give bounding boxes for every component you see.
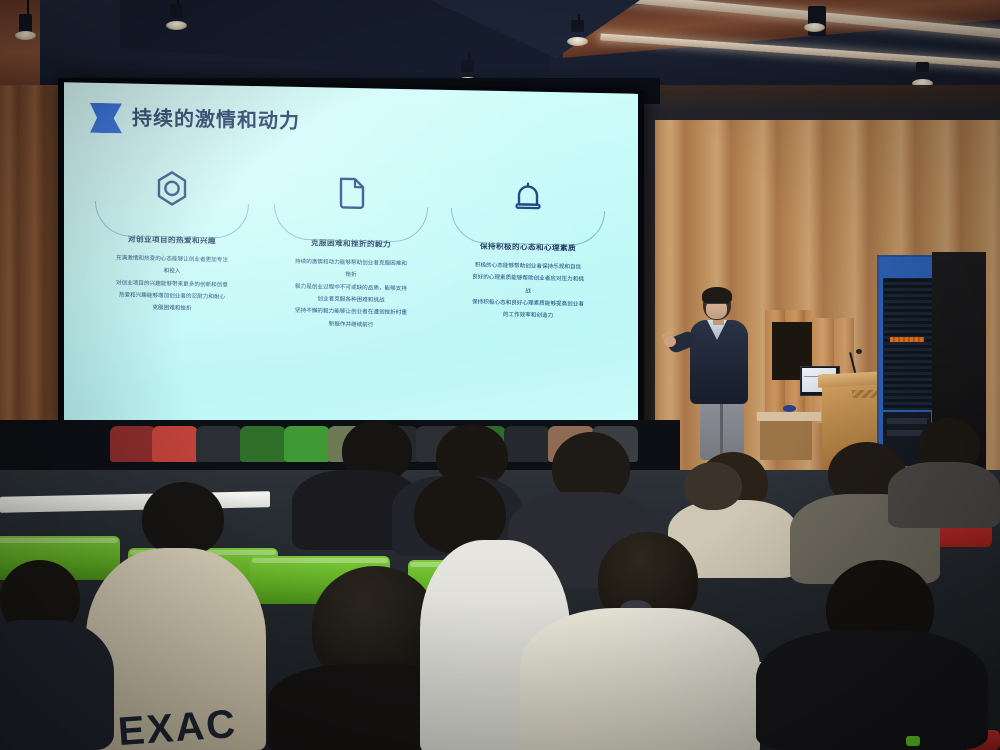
column-3-icon-area xyxy=(440,168,616,236)
column-2-line-2: 挫折 xyxy=(269,269,433,283)
column-3-line-5: 的工作效率和创造力 xyxy=(446,309,610,323)
column-1-line-5: 克服困难和挫折 xyxy=(90,302,254,316)
stacked-chair xyxy=(504,426,550,462)
ceiling-light-strip xyxy=(600,33,1000,69)
presenter-hair xyxy=(702,287,732,304)
audience-head xyxy=(684,462,742,510)
jacket-logo-text: EXAC xyxy=(117,702,239,750)
column-3-body: 积极的心态能够帮助创业者保持乐观和自信 良好的心理素质能够帮助创业者应对压力和挑… xyxy=(440,260,616,323)
presenter-hand xyxy=(664,336,676,347)
column-3-line-2: 良好的心理素质能够帮助创业者应对压力和挑 xyxy=(446,272,610,286)
column-1-icon-area xyxy=(84,161,260,229)
column-1-dish-shape xyxy=(95,201,249,239)
column-1-line-2: 和投入 xyxy=(90,265,254,279)
slide-column-2: 克服困难和挫折的毅力 持续的激情和动力能够帮助创业者克服困难和 挫折 毅力是创业… xyxy=(263,164,439,334)
stacked-chair xyxy=(284,426,330,462)
audience-head xyxy=(142,482,224,556)
slide-title: 持续的激情和动力 xyxy=(132,102,300,134)
column-2-line-4: 创业者克服各种困难和挑战 xyxy=(269,293,433,307)
audience-body xyxy=(888,462,1000,528)
stacked-chair xyxy=(240,426,286,462)
slide-column-1: 对创业项目的热爱和兴趣 充满激情和热爱的心态能够让创业者更加专注 和投入 对创业… xyxy=(84,161,260,318)
control-desk xyxy=(757,412,821,421)
column-3-line-1: 积极的心态能够帮助创业者保持乐观和自信 xyxy=(446,260,610,274)
server-rack-mesh-door[interactable] xyxy=(883,278,933,410)
slide-title-row: 持续的激情和动力 xyxy=(90,101,610,151)
ribbon-accent-icon xyxy=(90,103,122,134)
stacked-chair xyxy=(110,426,156,462)
column-1-line-4: 热爱和兴趣能够增加创业者的忍耐力和耐心 xyxy=(90,290,254,304)
green-object xyxy=(906,736,920,746)
column-2-icon-area xyxy=(263,164,439,232)
column-1-line-3: 对创业项目的兴趣能够带来更多的创新和创意 xyxy=(90,277,254,291)
slide-column-3: 保持积极的心态和心理素质 积极的心态能够帮助创业者保持乐观和自信 良好的心理素质… xyxy=(440,168,616,325)
column-3-line-3: 战 xyxy=(446,285,610,299)
column-3-line-4: 保持积极心态和良好心理素质能够提高创业者 xyxy=(446,297,610,311)
ceiling-spotlight xyxy=(461,60,474,72)
server-rack-label xyxy=(890,337,924,342)
ceiling-spotlight xyxy=(170,4,183,18)
stacked-chair xyxy=(152,426,198,462)
glasses-icon xyxy=(705,303,727,309)
column-2-line-1: 持续的激情和动力能够帮助创业者克服困难和 xyxy=(269,256,433,270)
audience-body xyxy=(756,630,988,750)
column-2-body: 持续的激情和动力能够帮助创业者克服困难和 挫折 毅力是创业过程中不可或缺的品质，… xyxy=(263,256,439,332)
presentation-slide[interactable]: 持续的激情和动力 对创业项目的热爱和兴趣 充满激情和热爱的心态能够让创业者更加专… xyxy=(64,82,638,432)
desk-support xyxy=(760,420,812,460)
ceiling-spotlight xyxy=(808,6,826,36)
ceiling-spotlight xyxy=(571,20,584,32)
column-2-dish-shape xyxy=(274,204,428,242)
ceiling-spotlight xyxy=(916,62,929,72)
mouse[interactable] xyxy=(783,405,796,412)
lecture-hall-photo: 持续的激情和动力 对创业项目的热爱和兴趣 充满激情和热爱的心态能够让创业者更加专… xyxy=(0,0,1000,750)
column-2-line-5: 坚持不懈的毅力能够让创业者在遭创挫折时重 xyxy=(269,306,433,320)
column-2-line-3: 毅力是创业过程中不可或缺的品质，能够支持 xyxy=(269,281,433,295)
column-1-body: 充满激情和热爱的心态能够让创业者更加专注 和投入 对创业项目的兴趣能够带来更多的… xyxy=(84,253,260,316)
audience-body xyxy=(0,620,114,750)
ceiling-spotlight xyxy=(19,14,32,34)
stacked-chair xyxy=(196,426,242,462)
column-1-line-1: 充满激情和热爱的心态能够让创业者更加专注 xyxy=(90,253,254,267)
presenter-leg-gap xyxy=(720,404,723,460)
column-2-line-6: 新振作并继续前行 xyxy=(269,318,433,332)
column-3-dish-shape xyxy=(451,208,605,246)
audience-body xyxy=(520,608,760,750)
rack-unit xyxy=(887,418,927,424)
microphone-icon xyxy=(856,349,862,354)
